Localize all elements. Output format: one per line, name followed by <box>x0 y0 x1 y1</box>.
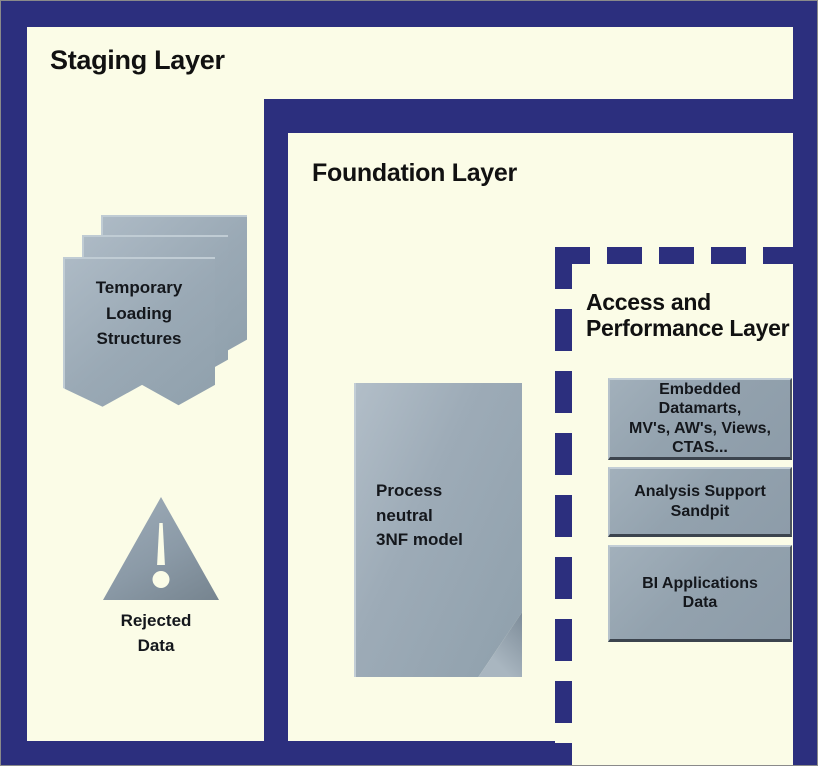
rejected-data-group: Rejected Data <box>81 497 231 687</box>
access-performance-layer-panel: Access and Performance Layer Embedded Da… <box>572 264 793 766</box>
access-performance-layer-frame: Access and Performance Layer Embedded Da… <box>555 247 793 766</box>
temporary-loading-structures-label: Temporary Loading Structures <box>63 275 215 352</box>
staging-layer-panel: Staging Layer Temporary Loading Structur… <box>27 27 793 741</box>
analysis-support-sandpit-box[interactable]: Analysis Support Sandpit <box>608 467 792 537</box>
access-performance-layer-title: Access and Performance Layer <box>586 289 789 342</box>
warning-triangle-icon <box>103 497 219 600</box>
temporary-loading-structures-group: Temporary Loading Structures <box>63 215 253 413</box>
process-neutral-3nf-label: Process neutral 3NF model <box>376 479 463 553</box>
access-layer-dashed-top-border <box>555 247 793 264</box>
bi-applications-data-box[interactable]: BI Applications Data <box>608 545 792 642</box>
exclamation-dot <box>153 571 170 588</box>
process-neutral-3nf-document: Process neutral 3NF model <box>354 383 522 677</box>
diagram-canvas: Staging Layer Temporary Loading Structur… <box>0 0 818 766</box>
access-layer-title-line2: Performance Layer <box>586 315 789 341</box>
staging-layer-title: Staging Layer <box>50 45 225 76</box>
rejected-data-label: Rejected Data <box>81 609 231 658</box>
foundation-layer-title: Foundation Layer <box>312 159 517 188</box>
foundation-layer-frame: Foundation Layer Process neutral 3NF mod… <box>264 99 793 741</box>
access-layer-dashed-left-border <box>555 247 572 766</box>
access-layer-title-line1: Access and <box>586 289 789 315</box>
embedded-datamarts-box[interactable]: Embedded Datamarts, MV's, AW's, Views, C… <box>608 378 792 460</box>
foundation-layer-panel: Foundation Layer Process neutral 3NF mod… <box>288 133 793 741</box>
